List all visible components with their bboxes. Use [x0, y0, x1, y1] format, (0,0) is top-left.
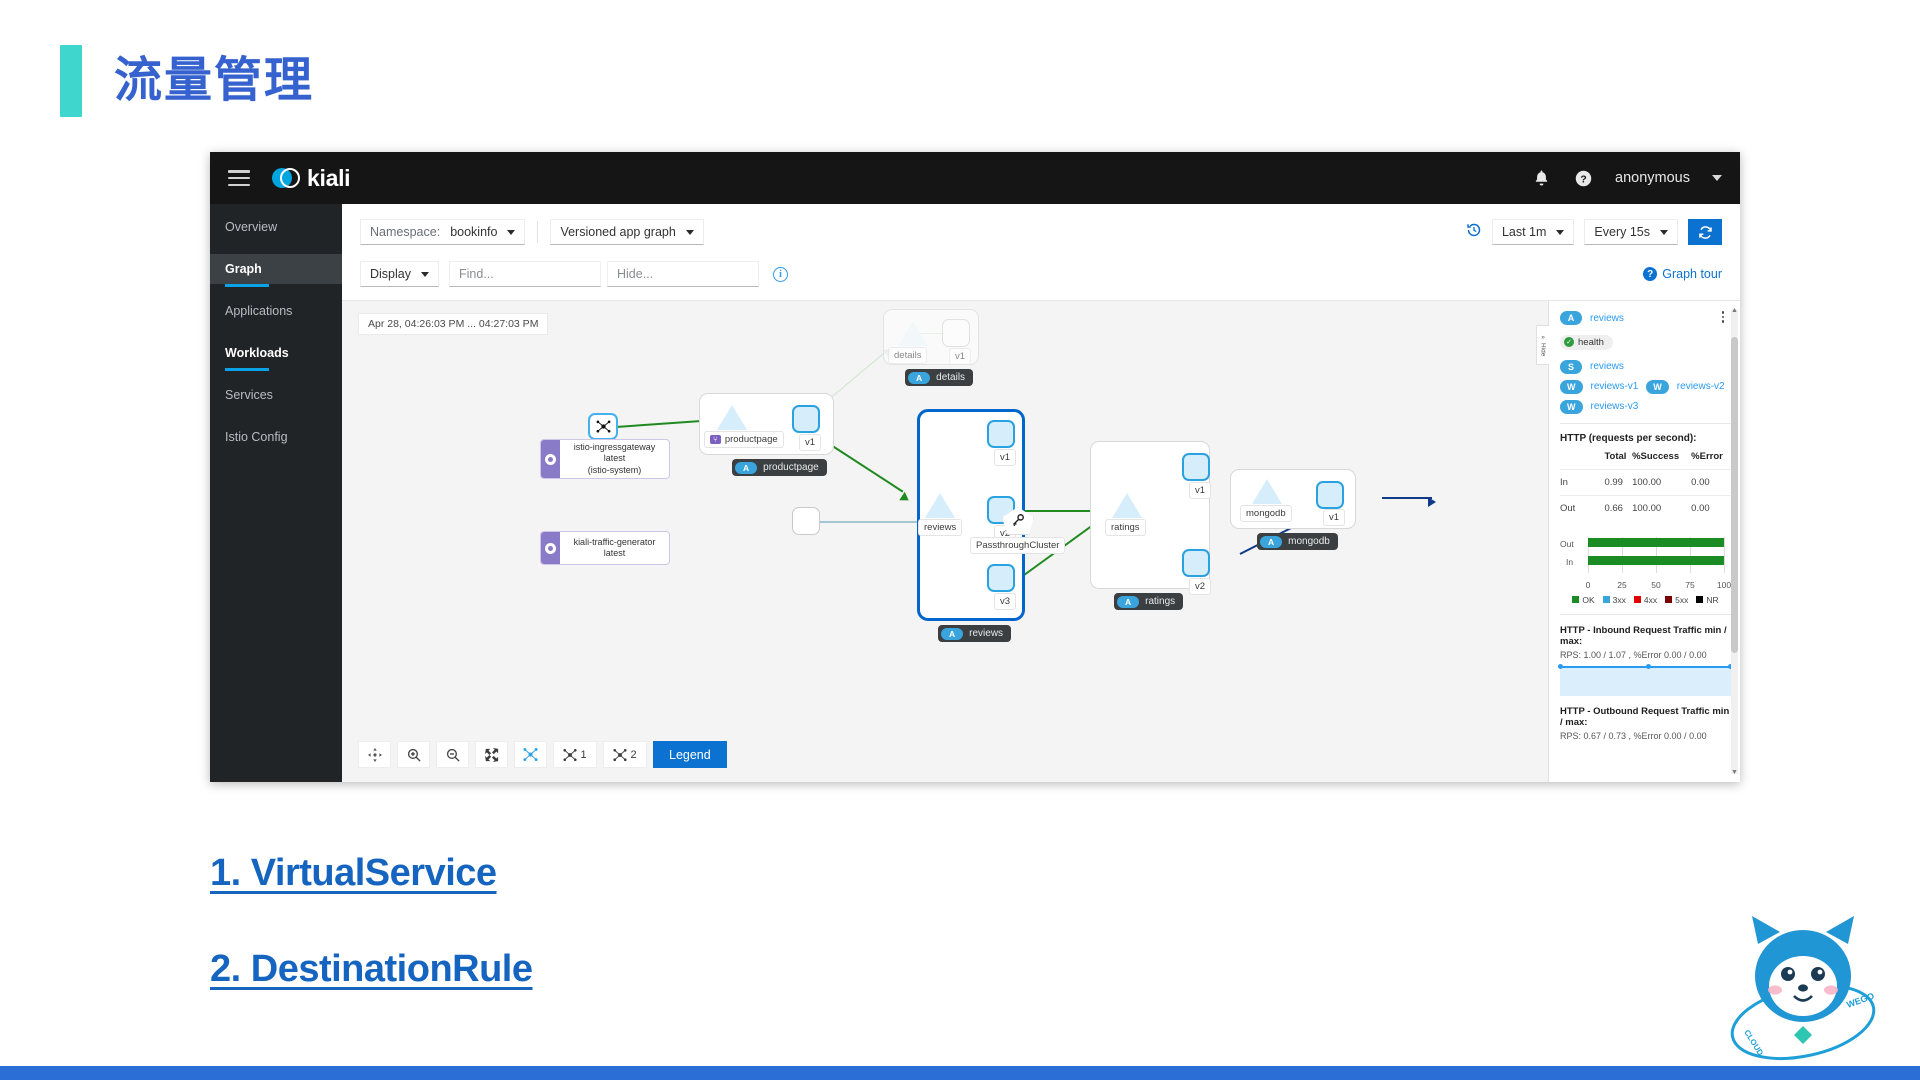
chart-legend: OK 3xx 4xx 5xx NR: [1560, 595, 1731, 605]
http-metrics-table: Total %Success %Error In 0.99 100.00: [1560, 451, 1731, 521]
legend-item-5xx: 5xx: [1665, 595, 1688, 605]
badge-label: productpage: [763, 462, 819, 473]
footer-bar: [0, 1066, 1920, 1080]
app-masthead: kiali ? anonymous: [210, 152, 1740, 204]
kiali-logo-icon: [272, 165, 298, 191]
ref-name-link[interactable]: reviews-v3: [1591, 401, 1639, 412]
productpage-service-icon: [717, 405, 747, 430]
title-accent-bar: [60, 45, 82, 117]
layout-2-icon[interactable]: 2: [603, 741, 647, 768]
panel-scrollbar[interactable]: ▲ ▼: [1731, 309, 1738, 774]
node-line-1: istio-ingressgateway: [574, 442, 656, 453]
bc-ylabel-out: Out: [1560, 539, 1574, 549]
cell-out-total: 0.66: [1604, 495, 1632, 521]
kebab-menu-icon[interactable]: [1722, 311, 1725, 323]
legend-item-3xx: 3xx: [1603, 595, 1626, 605]
hamburger-icon[interactable]: [228, 170, 250, 186]
zoom-out-icon[interactable]: [436, 741, 469, 768]
legend-button[interactable]: Legend: [653, 741, 727, 768]
toolbar-secondary-right: ? Graph tour: [1643, 267, 1722, 281]
chevron-down-icon: [1556, 230, 1564, 235]
arrowhead-icon: [899, 492, 911, 505]
graph-toolbar-primary: Namespace: bookinfo Versioned app graph: [342, 214, 1740, 250]
table-row: Out 0.66 100.00 0.00: [1560, 495, 1731, 521]
node-label-productpage-v1: v1: [799, 434, 821, 451]
xtick-25: 25: [1617, 580, 1626, 590]
hide-input[interactable]: Hide...: [607, 261, 759, 287]
cell-out-success: 100.00: [1632, 495, 1691, 521]
legend-item-nr: NR: [1696, 595, 1718, 605]
col-blank: [1560, 451, 1604, 470]
scroll-up-icon[interactable]: ▲: [1731, 307, 1738, 314]
panel-ref-service: S reviews: [1560, 360, 1731, 374]
inbound-traffic-title: HTTP - Inbound Request Traffic min / max…: [1560, 625, 1731, 647]
xtick-75: 75: [1685, 580, 1694, 590]
outbound-traffic-values: RPS: 0.67 / 0.73 , %Error 0.00 / 0.00: [1560, 731, 1731, 741]
brand-name: kiali: [307, 165, 350, 192]
badge-kind: A: [908, 372, 930, 384]
kiali-traffic-generator-workload[interactable]: [792, 507, 820, 535]
refresh-interval-select[interactable]: Every 15s: [1584, 219, 1678, 245]
ref-name-link[interactable]: reviews-v1: [1591, 381, 1639, 392]
http-metrics-title: HTTP (requests per second):: [1560, 433, 1731, 444]
panel-ref-workloads-row-2: W reviews-v3: [1560, 400, 1731, 414]
gridline: [1724, 537, 1725, 573]
sidebar-item-istio-config[interactable]: Istio Config: [210, 422, 342, 452]
node-label-reviews: reviews: [918, 519, 962, 536]
table-row: In 0.99 100.00 0.00: [1560, 469, 1731, 495]
node-label-productpage: ⑂ productpage: [704, 431, 784, 448]
node-label-reviews-v1: v1: [994, 449, 1016, 466]
ref-name-link[interactable]: reviews-v2: [1677, 381, 1725, 392]
divider: [1560, 423, 1731, 424]
ref-kind-badge: W: [1646, 380, 1669, 394]
sidebar-item-workloads[interactable]: Workloads: [210, 338, 342, 368]
layout-default-icon[interactable]: [514, 741, 547, 768]
node-label-mongodb-v1: v1: [1323, 509, 1345, 526]
node-label-ratings: ratings: [1105, 519, 1146, 536]
sidebar-item-overview[interactable]: Overview: [210, 212, 342, 242]
help-icon: ?: [1643, 267, 1657, 281]
masthead-actions: ? anonymous: [1531, 168, 1722, 188]
istio-ingressgateway-node[interactable]: [588, 413, 618, 440]
node-kiali-traffic-generator[interactable]: kiali-traffic-generator latest: [540, 531, 670, 565]
user-name[interactable]: anonymous: [1615, 170, 1690, 186]
legend-item-4xx: 4xx: [1634, 595, 1657, 605]
node-line-2: latest: [604, 548, 626, 559]
toolbar-divider: [537, 221, 538, 243]
layout-1-icon[interactable]: 1: [553, 741, 597, 768]
ref-name-link[interactable]: reviews: [1590, 361, 1624, 372]
node-istio-ingressgateway[interactable]: istio-ingressgateway latest (istio-syste…: [540, 439, 670, 479]
bar-in-ok: [1588, 556, 1724, 565]
bar-out-ok: [1588, 538, 1724, 547]
namespace-value: bookinfo: [450, 225, 497, 239]
time-range-value: Last 1m: [1502, 225, 1546, 239]
main-content: Namespace: bookinfo Versioned app graph: [342, 204, 1740, 782]
namespace-select[interactable]: Namespace: bookinfo: [360, 219, 525, 245]
node-label-ratings-v2: v2: [1189, 578, 1211, 595]
fit-screen-icon[interactable]: [475, 741, 508, 768]
node-side-accent: [541, 440, 560, 478]
time-range-select[interactable]: Last 1m: [1492, 219, 1574, 245]
sidebar-item-graph[interactable]: Graph: [210, 254, 342, 284]
status-badge: ✓ health: [1560, 335, 1613, 350]
badge-label: reviews: [969, 628, 1003, 639]
center-icon[interactable]: [358, 741, 391, 768]
chevron-down-icon: [507, 230, 515, 235]
node-label-mongodb: mongodb: [1240, 505, 1292, 522]
badge-label: mongodb: [1288, 536, 1330, 547]
badge-label: details: [936, 372, 965, 383]
bc-ylabel-in: In: [1566, 557, 1573, 567]
node-label-passthrough: PassthroughCluster: [970, 537, 1065, 554]
refresh-interval-value: Every 15s: [1594, 225, 1650, 239]
namespace-label: Namespace:: [370, 225, 440, 239]
brand[interactable]: kiali: [272, 165, 350, 192]
group-badge-details: A details: [905, 369, 973, 386]
ratings-v2-workload[interactable]: [1182, 549, 1210, 577]
xtick-0: 0: [1586, 580, 1591, 590]
slide-title-block: 流量管理: [60, 45, 314, 117]
history-icon[interactable]: [1466, 222, 1482, 242]
panel-content: A reviews ✓ health S reviews: [1549, 301, 1740, 782]
sidebar-item-services[interactable]: Services: [210, 380, 342, 410]
badge-kind: A: [1117, 596, 1139, 608]
cell-in-success: 100.00: [1632, 469, 1691, 495]
cell-in-error: 0.00: [1691, 469, 1731, 495]
group-badge-productpage: A productpage: [732, 459, 827, 476]
page-title: 流量管理: [114, 57, 314, 105]
ref-kind-badge: S: [1560, 360, 1582, 374]
graph-tour-label: Graph tour: [1662, 267, 1722, 281]
node-line-2: latest: [604, 453, 626, 464]
inbound-traffic-sparkline: [1560, 666, 1731, 696]
scroll-down-icon[interactable]: ▼: [1731, 769, 1738, 776]
check-circle-icon: ✓: [1564, 337, 1574, 347]
node-label-details: details: [888, 347, 927, 364]
col-total: Total: [1604, 451, 1632, 470]
table-header-row: Total %Success %Error: [1560, 451, 1731, 470]
ref-kind-badge: W: [1560, 400, 1583, 414]
node-label-reviews-v3: v3: [994, 593, 1016, 610]
edge-mongodb-v1: [1382, 497, 1432, 499]
sidebar-item-applications[interactable]: Applications: [210, 296, 342, 326]
layout-1-label: 1: [580, 749, 586, 761]
ratings-service-icon: [1112, 493, 1142, 518]
detail-side-panel: » Hide A reviews ✓ health: [1548, 301, 1740, 782]
refresh-button[interactable]: [1688, 219, 1722, 245]
panel-app-row: A reviews: [1560, 311, 1731, 325]
group-badge-reviews: A reviews: [938, 625, 1011, 642]
reviews-service-icon: [925, 493, 955, 518]
mongodb-service-icon: [1252, 479, 1282, 504]
app-name-link[interactable]: reviews: [1590, 313, 1624, 324]
ref-kind-badge: W: [1560, 380, 1583, 394]
graph-type-value: Versioned app graph: [560, 225, 675, 239]
panel-hide-toggle[interactable]: » Hide: [1536, 325, 1549, 365]
ratings-v1-workload[interactable]: [1182, 453, 1210, 481]
virtualservice-icon: ⑂: [710, 435, 721, 444]
layout-2-label: 2: [630, 749, 636, 761]
kiali-app-window: kiali ? anonymous Overview Graph Applica…: [210, 152, 1740, 782]
graph-timestamp: Apr 28, 04:26:03 PM ... 04:27:03 PM: [358, 313, 548, 335]
badge-kind: A: [941, 628, 963, 640]
display-label: Display: [370, 267, 411, 281]
details-v1-workload[interactable]: [942, 319, 970, 347]
details-service-icon: [898, 321, 928, 346]
graph-tour-button[interactable]: ? Graph tour: [1643, 267, 1722, 281]
row-label-in: In: [1560, 469, 1604, 495]
chevron-down-icon: [686, 230, 694, 235]
app-body: Overview Graph Applications Workloads Se…: [210, 204, 1740, 782]
group-badge-ratings: A ratings: [1114, 593, 1183, 610]
zoom-in-icon[interactable]: [397, 741, 430, 768]
key-icon: [1011, 513, 1025, 530]
chevron-down-icon[interactable]: [1712, 175, 1722, 181]
col-error: %Error: [1691, 451, 1731, 470]
graph-canvas[interactable]: Apr 28, 04:26:03 PM ... 04:27:03 PM: [342, 301, 1548, 782]
graph-toolbar-secondary: Display Find... Hide... i ? Graph tour: [342, 256, 1740, 292]
xtick-100: 100: [1717, 580, 1731, 590]
node-side-accent: [541, 532, 560, 564]
traffic-status-bar-chart: Out In 0 25 50 75: [1560, 533, 1731, 591]
xtick-50: 50: [1651, 580, 1660, 590]
badge-label: ratings: [1145, 596, 1175, 607]
divider: [1560, 614, 1731, 615]
legend-item-ok: OK: [1572, 595, 1594, 605]
bell-icon[interactable]: [1531, 168, 1551, 188]
chevron-right-icon: »: [1541, 334, 1545, 341]
help-icon[interactable]: ?: [1573, 168, 1593, 188]
chevron-down-icon: [421, 272, 429, 277]
panel-hide-label: Hide: [1540, 343, 1547, 356]
svg-text:?: ?: [1580, 174, 1586, 185]
node-label-ratings-v1: v1: [1189, 482, 1211, 499]
app-kind-badge: A: [1560, 311, 1582, 325]
badge-kind: A: [1260, 536, 1282, 548]
badge-kind: A: [735, 462, 757, 474]
scrollbar-thumb[interactable]: [1731, 337, 1738, 653]
node-label-details-v1: v1: [949, 348, 971, 365]
cell-out-error: 0.00: [1691, 495, 1731, 521]
node-line-3: (istio-system): [588, 465, 642, 476]
row-label-out: Out: [1560, 495, 1604, 521]
mongodb-v1-workload[interactable]: [1316, 481, 1344, 509]
reviews-v3-workload[interactable]: [987, 564, 1015, 592]
health-label: health: [1578, 337, 1604, 348]
link-destinationrule[interactable]: 2. DestinationRule: [210, 948, 533, 991]
productpage-v1-workload[interactable]: [792, 405, 820, 433]
chevron-down-icon: [1660, 230, 1668, 235]
toolbar-right-group: Last 1m Every 15s: [1466, 219, 1722, 245]
outbound-traffic-title: HTTP - Outbound Request Traffic min / ma…: [1560, 706, 1731, 728]
graph-type-select[interactable]: Versioned app graph: [550, 219, 703, 245]
node-line-1: kiali-traffic-generator: [574, 537, 656, 548]
inbound-traffic-values: RPS: 1.00 / 1.07 , %Error 0.00 / 0.00: [1560, 650, 1731, 660]
sidebar: Overview Graph Applications Workloads Se…: [210, 204, 342, 782]
col-success: %Success: [1632, 451, 1691, 470]
find-input[interactable]: Find...: [449, 261, 601, 287]
group-badge-mongodb: A mongodb: [1257, 533, 1338, 550]
reviews-v1-workload[interactable]: [987, 420, 1015, 448]
cell-in-total: 0.99: [1604, 469, 1632, 495]
info-icon[interactable]: i: [773, 267, 788, 282]
link-virtualservice[interactable]: 1. VirtualService: [210, 852, 497, 895]
graph-area[interactable]: Apr 28, 04:26:03 PM ... 04:27:03 PM: [342, 300, 1740, 782]
display-menu[interactable]: Display: [360, 261, 439, 287]
mascot-logo: WEGO CLOUD: [1728, 904, 1878, 1064]
arrowhead-icon: [1428, 497, 1436, 507]
graph-controls-toolbar: 1 2 Legend: [358, 741, 727, 768]
panel-ref-workloads-row-1: W reviews-v1 W reviews-v2: [1560, 380, 1731, 394]
